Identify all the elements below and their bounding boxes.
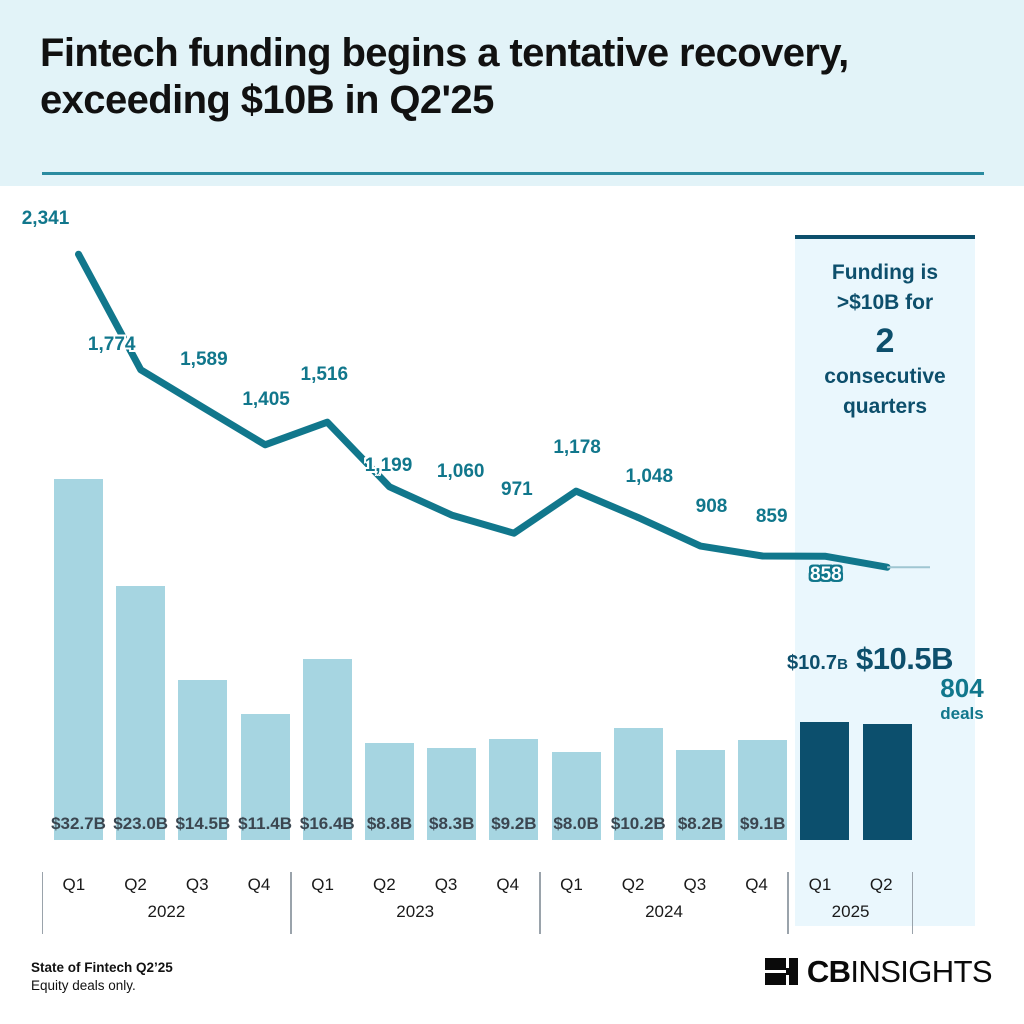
- axis-tick-q3-2024: Q3: [664, 875, 726, 899]
- deals-label-q4-2022: 1,405: [237, 389, 295, 411]
- x-axis: Q1Q2Q3Q42022Q1Q2Q3Q42023Q1Q2Q3Q42024Q1Q2…: [0, 872, 1024, 934]
- source-note: Equity deals only.: [31, 978, 136, 993]
- axis-tick-q3-2023: Q3: [415, 875, 477, 899]
- deals-label-q1-2022: 2,341: [17, 208, 75, 230]
- axis-tick-q2-2022: Q2: [105, 875, 167, 899]
- header-banner: Fintech funding begins a tentative recov…: [0, 0, 1024, 186]
- axis-year-2025: 2025: [789, 902, 911, 922]
- source-title: State of Fintech Q2’25: [31, 960, 173, 975]
- axis-tick-q3-2022: Q3: [166, 875, 228, 899]
- axis-tick-q1-2024: Q1: [541, 875, 603, 899]
- deals-label-q1-2025: 858: [797, 564, 855, 586]
- deals-label-q2-2024: 1,048: [620, 466, 678, 488]
- q2-2025-funding-label: $10.5B: [856, 641, 953, 677]
- axis-tick-q2-2024: Q2: [602, 875, 664, 899]
- axis-tick-q1-2022: Q1: [43, 875, 105, 899]
- chart-page: Fintech funding begins a tentative recov…: [0, 0, 1024, 1024]
- axis-tick-q4-2023: Q4: [477, 875, 539, 899]
- axis-year-2022: 2022: [43, 902, 290, 922]
- deals-label-q2-2022: 1,774: [83, 334, 141, 356]
- deal-labels-layer: 2,3411,7741,5891,4051,5161,1991,0609711,…: [0, 186, 1024, 886]
- axis-group-2024: Q1Q2Q3Q42024: [540, 872, 789, 934]
- axis-year-2023: 2023: [292, 902, 539, 922]
- logo-cb: CB: [807, 954, 851, 989]
- deals-label-q1-2024: 1,178: [548, 437, 606, 459]
- deals-label-q3-2024: 908: [683, 496, 741, 518]
- cb-insights-logo-text: CBINSIGHTS: [807, 956, 992, 987]
- q1-2025-funding-value: $10.7: [787, 652, 837, 674]
- q1-2025-funding-label: $10.7B: [787, 652, 848, 675]
- deals-label-q3-2023: 1,060: [432, 461, 490, 483]
- axis-tick-q2-2025: Q2: [851, 875, 912, 899]
- q1-2025-funding-unit: B: [837, 656, 848, 673]
- last-deal-value: 804: [922, 673, 1002, 703]
- axis-tick-q1-2023: Q1: [292, 875, 354, 899]
- axis-tick-q4-2024: Q4: [726, 875, 788, 899]
- axis-tick-q2-2023: Q2: [354, 875, 416, 899]
- last-deal-unit: deals: [922, 703, 1002, 725]
- axis-tick-q4-2022: Q4: [228, 875, 290, 899]
- page-title: Fintech funding begins a tentative recov…: [40, 30, 1000, 124]
- header-divider: [42, 172, 984, 175]
- deals-label-q3-2022: 1,589: [175, 349, 233, 371]
- axis-year-2024: 2024: [541, 902, 788, 922]
- deals-label-q4-2024: 859: [743, 506, 801, 528]
- axis-group-2022: Q1Q2Q3Q42022: [42, 872, 291, 934]
- cb-insights-logo: CBINSIGHTS: [765, 956, 992, 987]
- deals-label-q1-2023: 1,516: [295, 364, 353, 386]
- axis-tick-q1-2025: Q1: [789, 875, 850, 899]
- deals-label-q2-2023: 1,199: [360, 455, 418, 477]
- footer: State of Fintech Q2’25 Equity deals only…: [0, 952, 1024, 1024]
- deals-label-q4-2023: 971: [488, 479, 546, 501]
- axis-group-2023: Q1Q2Q3Q42023: [291, 872, 540, 934]
- last-deal-count: 804 deals: [922, 673, 1002, 725]
- logo-insights: INSIGHTS: [850, 954, 992, 989]
- cb-insights-logo-mark-icon: [765, 958, 798, 985]
- chart-plot-area: Funding is >$10B for 2 consecutive quart…: [0, 186, 1024, 886]
- axis-group-2025: Q1Q22025: [788, 872, 912, 934]
